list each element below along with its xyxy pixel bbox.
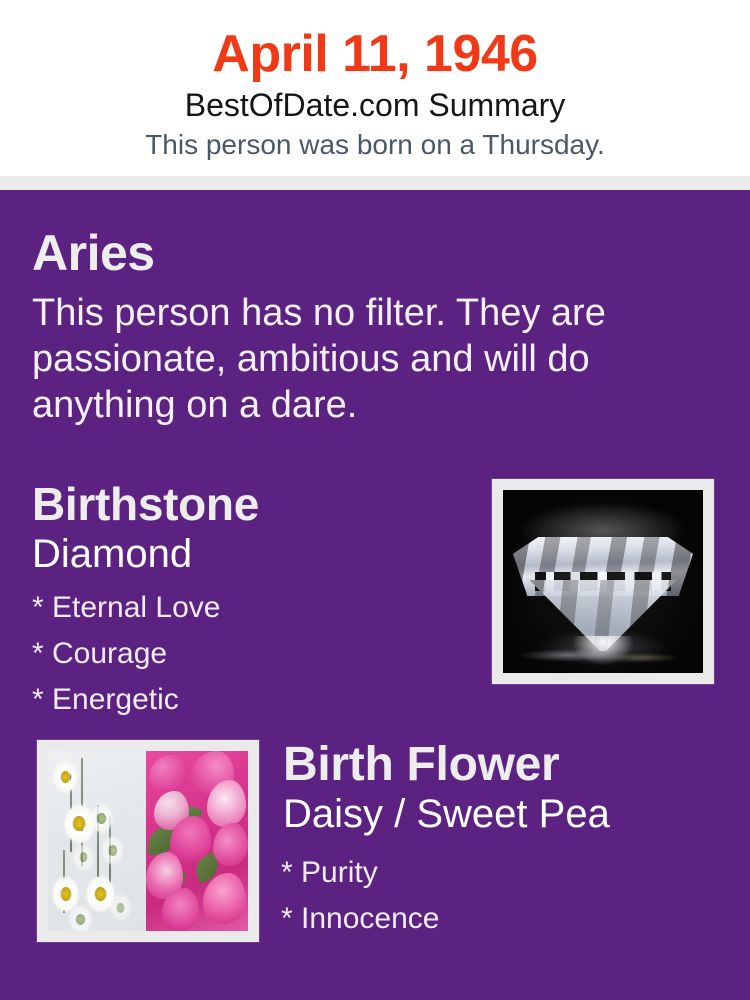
birthstone-heading: Birthstone [32,478,259,530]
zodiac-sign-heading: Aries [32,225,155,281]
daisy-and-sweet-pea-photo [48,751,248,931]
birthstone-name: Diamond [32,530,192,578]
sweet-pea-photo-half [146,751,248,931]
birth-flower-name: Daisy / Sweet Pea [283,790,610,838]
birth-flower-trait-list: * Purity * Innocence [281,850,439,942]
header: April 11, 1946 BestOfDate.com Summary Th… [0,0,750,176]
header-divider [0,176,750,190]
list-item: * Innocence [281,896,439,942]
content-panel: Aries This person has no filter. They ar… [0,190,750,1000]
birthstone-image-frame [492,479,714,684]
daisy-photo-half [48,751,146,931]
diamond-photo [503,490,703,673]
site-name: BestOfDate.com Summary [0,86,750,124]
birth-flower-heading: Birth Flower [283,738,559,792]
birthstone-trait-list: * Eternal Love * Courage * Energetic [32,585,220,723]
diamond-reflection [515,644,691,670]
birth-weekday-text: This person was born on a Thursday. [0,128,750,162]
zodiac-description: This person has no filter. They are pass… [32,290,652,428]
birth-flower-image-frame [37,740,259,942]
page-title-date: April 11, 1946 [0,26,750,82]
list-item: * Courage [32,631,220,677]
list-item: * Purity [281,850,439,896]
list-item: * Energetic [32,677,220,723]
list-item: * Eternal Love [32,585,220,631]
birthday-summary-card: April 11, 1946 BestOfDate.com Summary Th… [0,0,750,1000]
